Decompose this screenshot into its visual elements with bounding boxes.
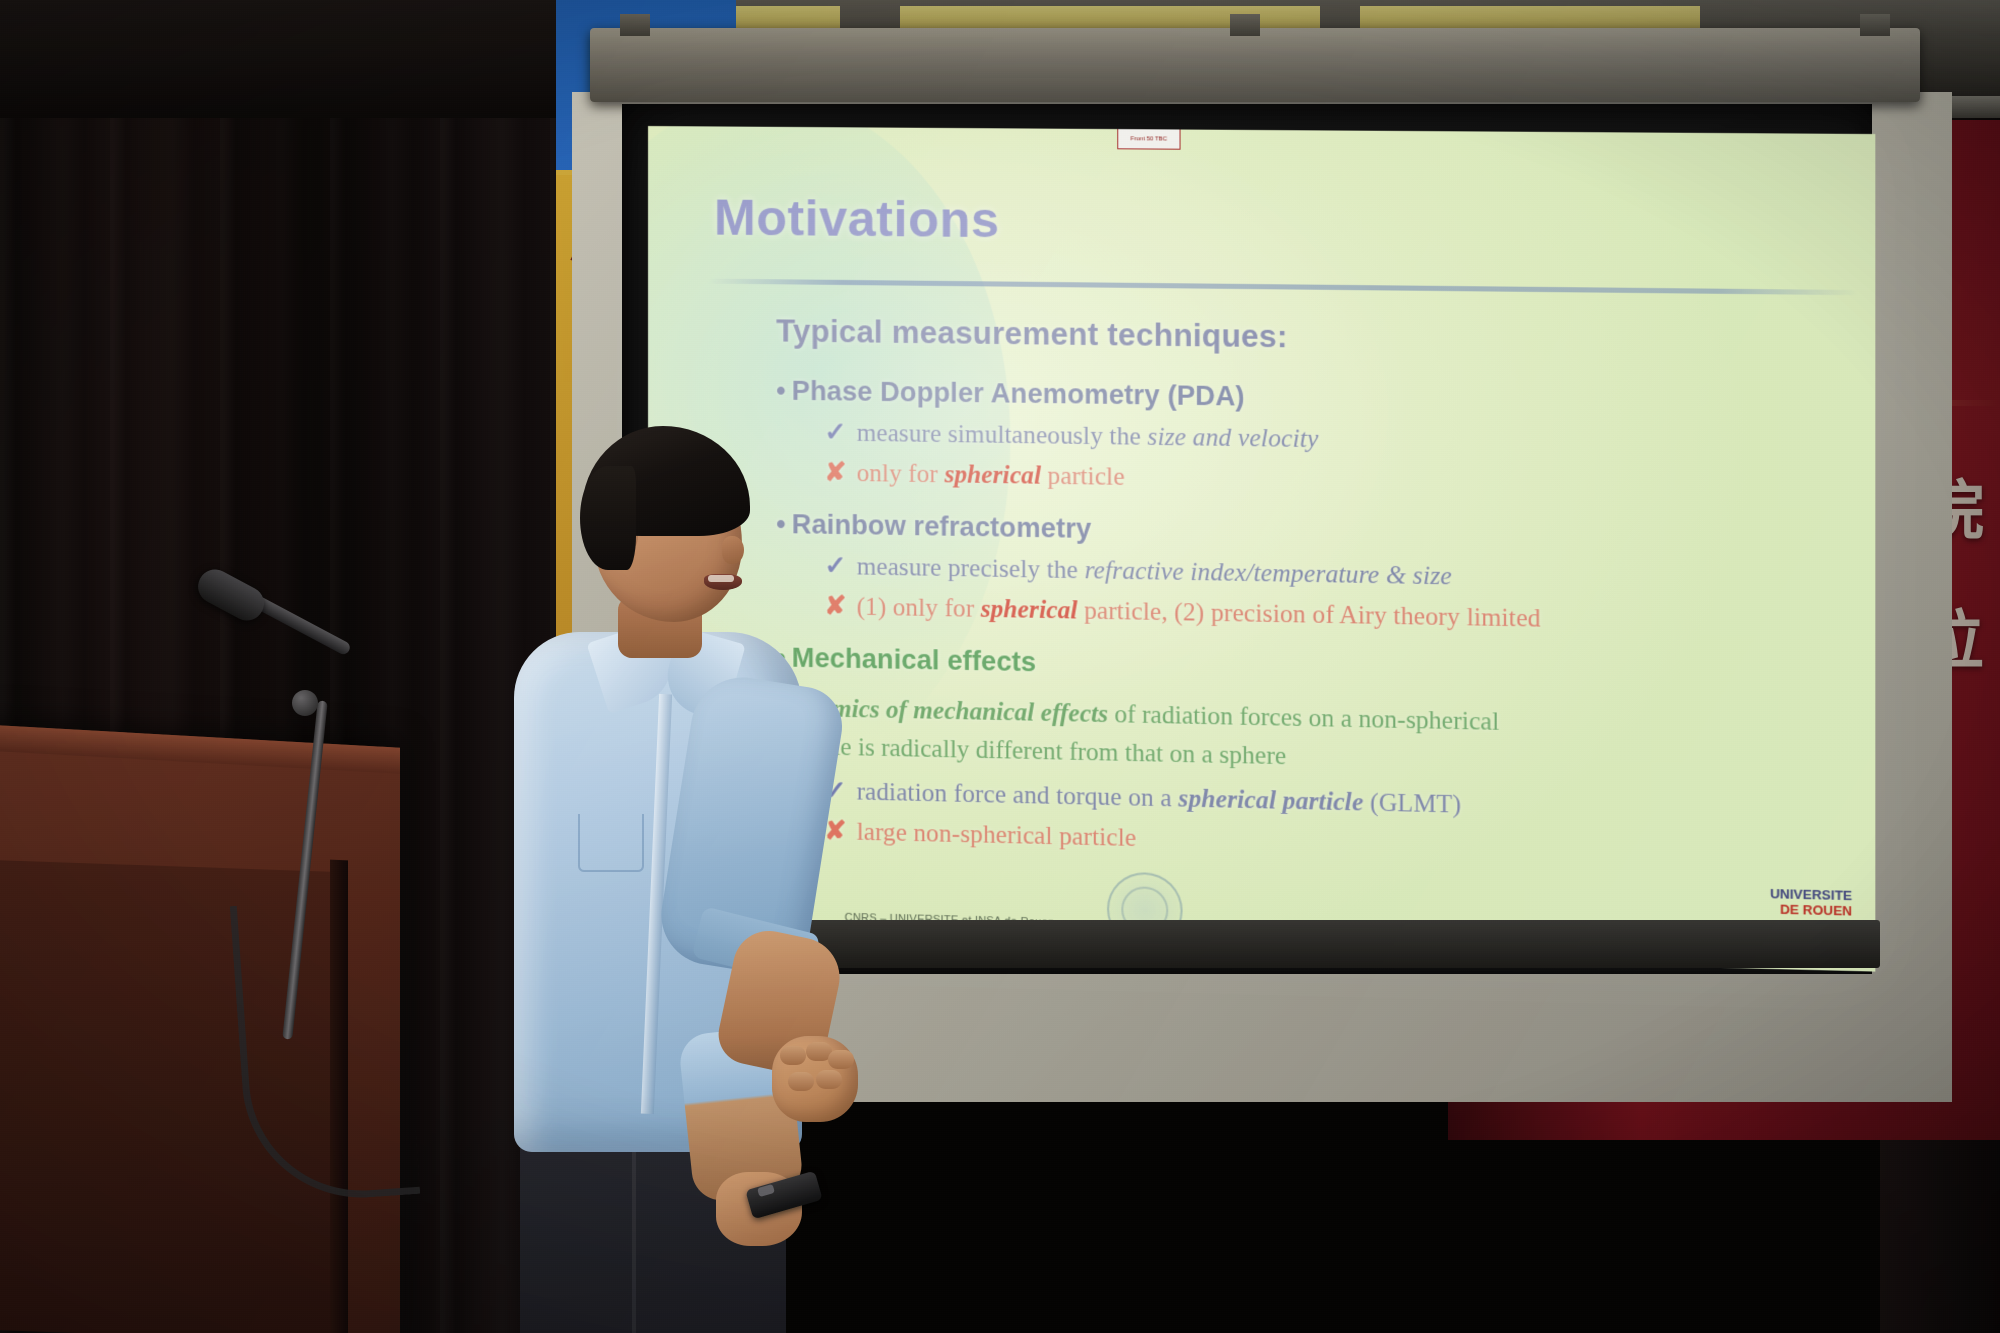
knuckle <box>780 1046 806 1065</box>
sub-final-ok-em: spherical particle <box>1178 785 1363 816</box>
paragraph-mechanical: Dynamics of mechanical effects of radiat… <box>776 689 1867 787</box>
knuckle <box>788 1072 814 1091</box>
sub-final-ok-post: (GLMT) <box>1363 789 1461 819</box>
microphone-joint <box>292 690 318 716</box>
presenter <box>500 418 920 1333</box>
slide-title: Motivations <box>714 189 1000 250</box>
housing-bracket-left <box>620 14 650 36</box>
sub-pda-bad-em: spherical <box>944 461 1041 490</box>
knuckle <box>828 1050 854 1069</box>
presenter-teeth <box>708 575 734 582</box>
sub-pda-ok: ✓measure simultaneously the size and vel… <box>824 417 1866 461</box>
bullet-rainbow: •Rainbow refractometry <box>776 509 1867 557</box>
sub-rainbow-bad-post: particle, (2) precision of Airy theory l… <box>1078 597 1541 632</box>
sub-pda-bad-post: particle <box>1041 463 1125 491</box>
housing-bracket-right <box>1860 14 1890 36</box>
sub-rainbow-bad-em: spherical <box>981 596 1078 625</box>
presentation-photo: 庆 理学院 学位 Front 50 TBC Motivations Typica… <box>0 0 2000 1333</box>
bullet-mechanical: •Mechanical effects <box>776 642 1867 694</box>
bullet-dot-icon: • <box>776 376 786 406</box>
screen-roller-housing <box>590 28 1920 102</box>
presenter-nose <box>722 536 744 564</box>
sub-rainbow-ok: ✓measure precisely the refractive index/… <box>824 551 1866 599</box>
university-logo: UNIVERSITE DE ROUEN <box>1770 887 1852 920</box>
sub-rainbow-bad: ✘(1) only for spherical particle, (2) pr… <box>824 591 1866 640</box>
sub-pda-bad: ✘only for spherical particle <box>824 457 1866 502</box>
screen-small-label: Front 50 TBC <box>1117 127 1180 150</box>
university-line2: DE ROUEN <box>1770 902 1852 919</box>
presenter-fist <box>772 1036 858 1122</box>
trouser-crease <box>632 1148 636 1333</box>
ceiling-shadow <box>0 0 560 118</box>
housing-bracket-mid <box>1230 14 1260 36</box>
slide-lead-text: Typical measurement techniques: <box>776 313 1867 362</box>
sub-pda-ok-em: size and velocity <box>1147 424 1318 454</box>
shirt-pocket <box>578 814 644 872</box>
bullet-pda: •Phase Doppler Anemometry (PDA) <box>776 376 1867 421</box>
presenter-hair-side <box>580 466 636 570</box>
bullet-pda-label: Phase Doppler Anemometry (PDA) <box>792 376 1245 412</box>
slide-body: Typical measurement techniques: •Phase D… <box>776 313 1867 869</box>
paragraph-line1-rest: of radiation forces on a non-spherical <box>1108 701 1499 736</box>
sub-rainbow-ok-em: refractive index/temperature & size <box>1085 557 1452 590</box>
knuckle <box>816 1070 842 1089</box>
